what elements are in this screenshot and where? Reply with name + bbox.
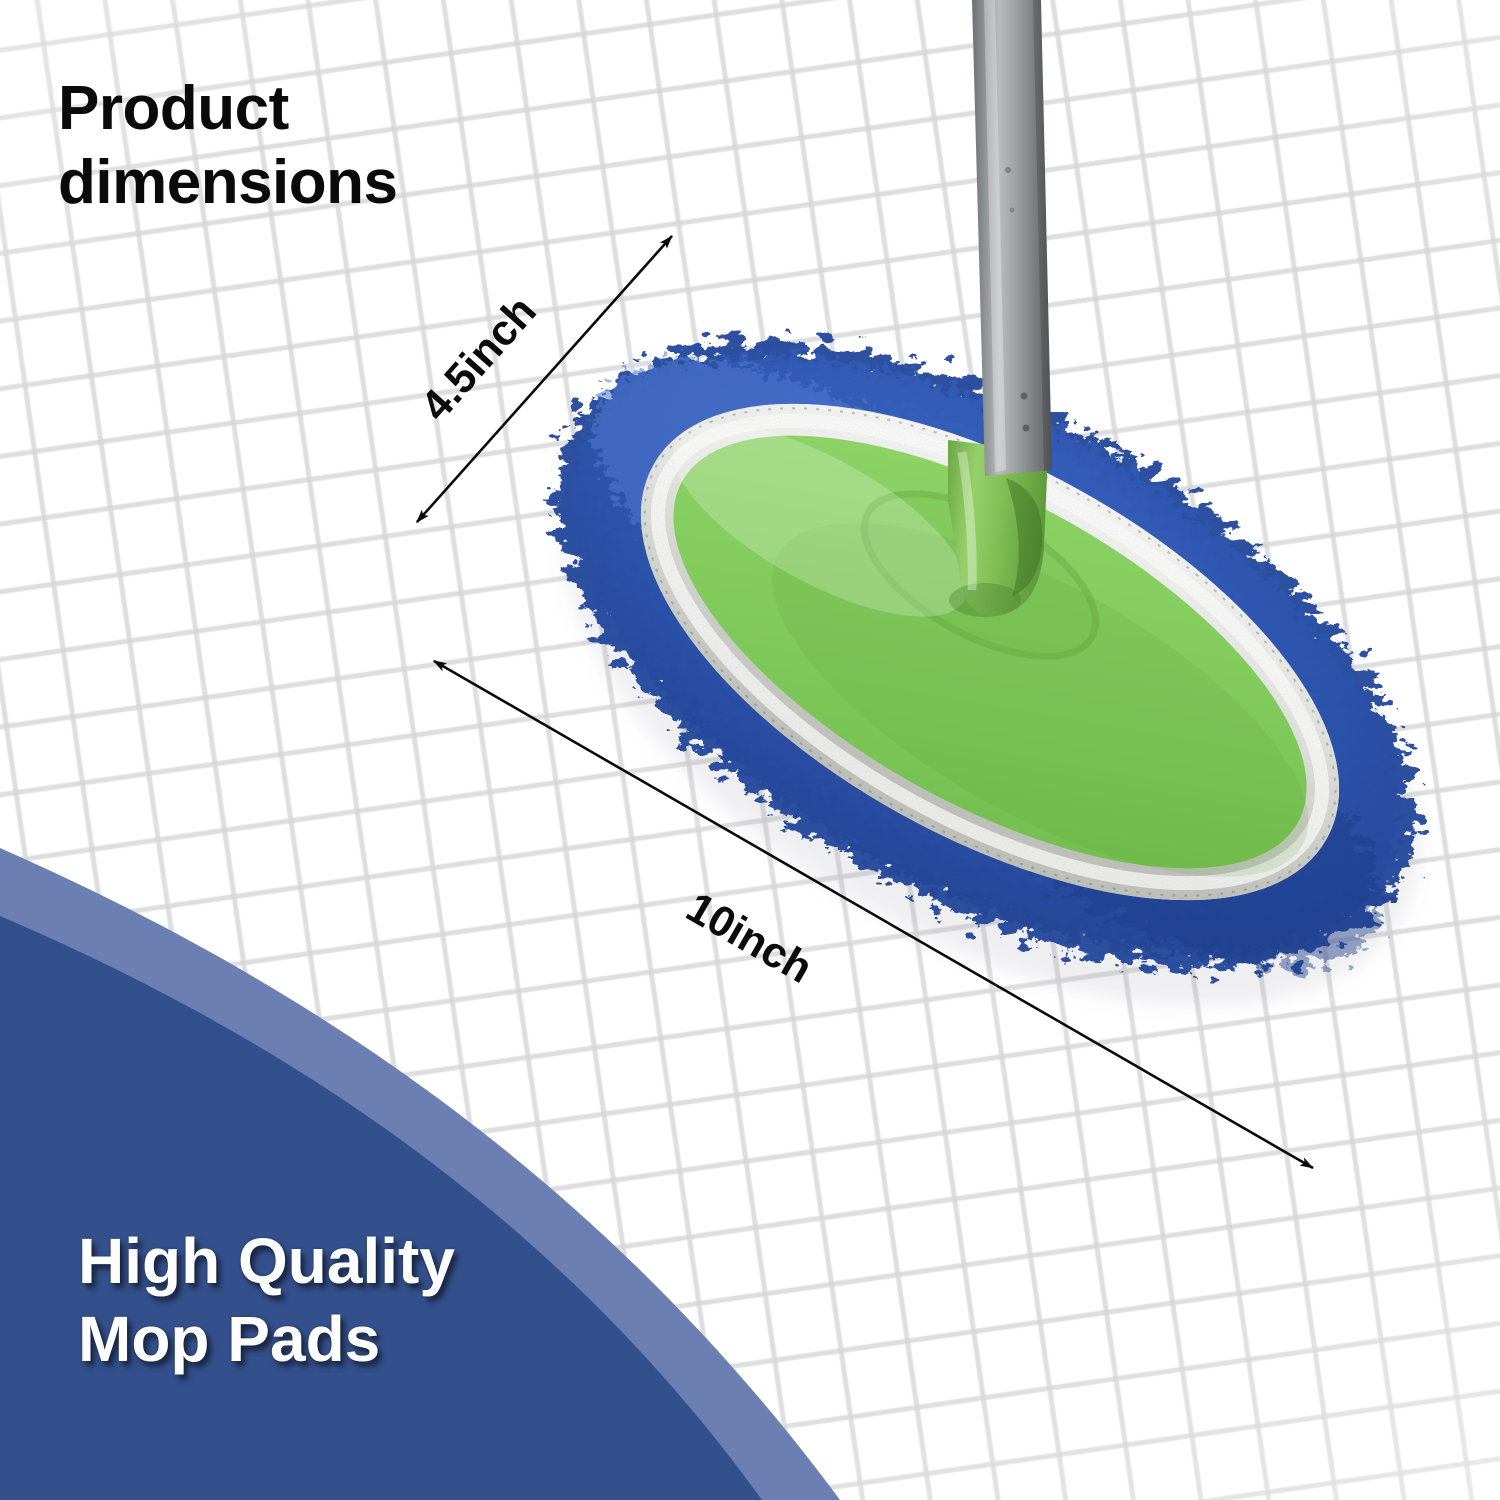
banner-headline: High Quality Mop Pads [78, 1222, 798, 1378]
product-dimensions-infographic: 4.5inch 10inch Product dimensions High Q… [0, 0, 1500, 1500]
page-title: Product dimensions [58, 72, 618, 221]
